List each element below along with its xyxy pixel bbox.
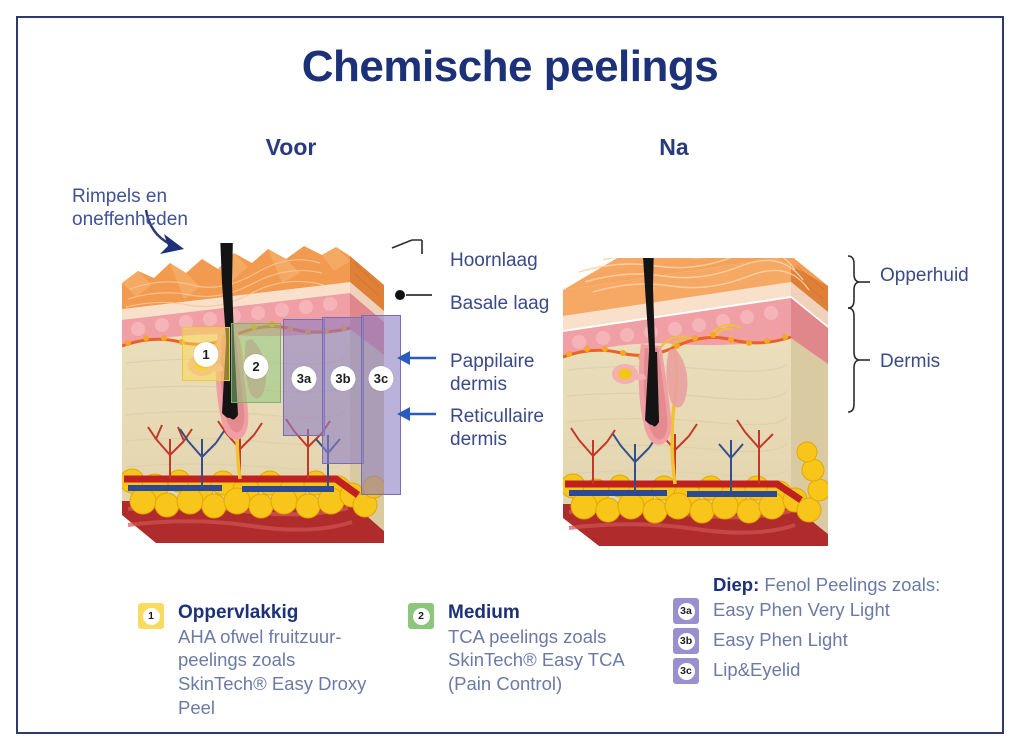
legend-item-deep: Diep: Fenol Peelings zoals: 3a Easy Phen… (673, 573, 1003, 687)
legend-label-3b: Easy Phen Light (713, 627, 1003, 653)
legend-title-medium: Medium (448, 601, 658, 625)
legend-row-3a: 3a Easy Phen Very Light (673, 597, 1003, 627)
legend-badge-2-number: 2 (413, 608, 430, 625)
column-heading-after: Na (604, 134, 744, 161)
label-pappilaire-dermis: Pappilaire dermis (450, 351, 570, 397)
legend-item-superficial: 1 Oppervlakkig AHA ofwel fruitzuur- peel… (138, 601, 403, 719)
depth-marker-1-label: 1 (194, 342, 219, 367)
legend-badge-3a: 3a (673, 598, 699, 624)
legend-heading-deep-rest: Fenol Peelings zoals: (759, 574, 940, 595)
depth-marker-3a-label: 3a (292, 366, 317, 391)
legend-line-1b: peelings zoals (178, 648, 403, 672)
legend-badge-3b-number: 3b (678, 633, 695, 650)
label-hoornlaag: Hoornlaag (450, 250, 538, 273)
legend-item-medium: 2 Medium TCA peelings zoals SkinTech® Ea… (408, 601, 658, 696)
legend-badge-2: 2 (408, 603, 434, 629)
legend-line-1c: SkinTech® Easy Droxy Peel (178, 672, 403, 719)
legend-heading-deep-bold: Diep: (713, 574, 759, 595)
column-heading-before: Voor (221, 134, 361, 161)
legend-badge-3c-number: 3c (678, 663, 695, 680)
page-title: Chemische peelings (18, 42, 1002, 92)
legend-heading-deep: Diep: Fenol Peelings zoals: (713, 573, 1003, 597)
label-opperhuid: Opperhuid (880, 265, 969, 288)
depth-marker-3b-label: 3b (331, 366, 356, 391)
legend-line-2a: TCA peelings zoals (448, 625, 658, 649)
legend-badge-3a-number: 3a (678, 603, 695, 620)
label-dermis: Dermis (880, 351, 940, 374)
legend-label-3c: Lip&Eyelid (713, 657, 1003, 683)
depth-marker-2-label: 2 (244, 354, 269, 379)
depth-marker-3a[interactable]: 3a (283, 319, 325, 436)
legend-line-2b: SkinTech® Easy TCA (448, 648, 658, 672)
legend-row-3c: 3c Lip&Eyelid (673, 657, 1003, 687)
depth-marker-3b[interactable]: 3b (322, 317, 364, 464)
legend-label-3a: Easy Phen Very Light (713, 597, 1003, 623)
label-reticullaire-dermis: Reticullaire dermis (450, 406, 590, 452)
poster-frame: Chemische peelings Voor Na (16, 16, 1004, 734)
legend-badge-3b: 3b (673, 628, 699, 654)
depth-marker-1[interactable]: 1 (182, 327, 230, 381)
skin-diagram-before: 1 2 3a 3b 3c (122, 243, 384, 548)
depth-marker-2[interactable]: 2 (231, 323, 281, 403)
legend-badge-3c: 3c (673, 658, 699, 684)
legend-row-3b: 3b Easy Phen Light (673, 627, 1003, 657)
depth-marker-3c-label: 3c (369, 366, 394, 391)
legend-badge-1-number: 1 (143, 608, 160, 625)
skin-diagram-after (563, 258, 828, 548)
depth-marker-3c[interactable]: 3c (361, 315, 401, 495)
label-basale-laag: Basale laag (450, 293, 549, 316)
legend-badge-1: 1 (138, 603, 164, 629)
legend-line-2c: (Pain Control) (448, 672, 658, 696)
annotation-wrinkles: Rimpels en oneffenheden (72, 186, 252, 232)
legend-line-1a: AHA ofwel fruitzuur- (178, 625, 403, 649)
legend-title-superficial: Oppervlakkig (178, 601, 403, 625)
